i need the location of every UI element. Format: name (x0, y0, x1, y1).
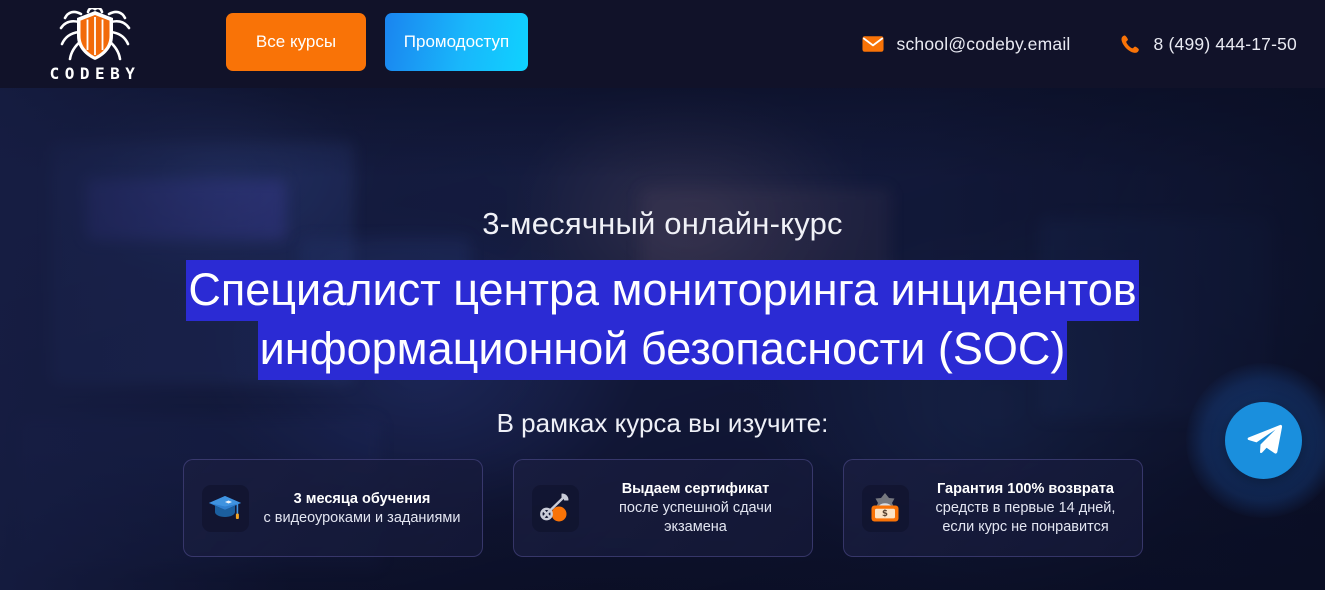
email-text: school@codeby.email (897, 34, 1071, 55)
spider-shield-logo-icon (58, 8, 132, 64)
hero-section: 3-месячный онлайн-курс Специалист центра… (0, 88, 1325, 590)
phone-icon (1119, 33, 1141, 55)
feature-card-guarantee: $ Гарантия 100% возврата средств в первы… (843, 459, 1143, 557)
page-root: CODEBY Все курсы Промодоступ school@code… (0, 0, 1325, 590)
feature-cards: 3 месяца обучения с видеоуроками и задан… (0, 459, 1325, 557)
page-title-line-1: Специалист центра мониторинга инцидентов (186, 260, 1138, 321)
page-title: Специалист центра мониторинга инцидентов… (0, 260, 1325, 378)
feature-card-text: Гарантия 100% возврата средств в первые … (924, 479, 1128, 537)
telegram-fab-wrapper (1186, 363, 1325, 518)
hero-subtitle: В рамках курса вы изучите: (0, 408, 1325, 439)
feature-card-duration: 3 месяца обучения с видеоуроками и задан… (183, 459, 483, 557)
page-title-line-2: информационной безопасности (SOC) (258, 319, 1068, 380)
money-bag-icon: $ (862, 485, 909, 532)
logo-wordmark: CODEBY (50, 66, 141, 82)
feature-card-certificate: Выдаем сертификат после успешной сдачи э… (513, 459, 813, 557)
header-nav-buttons: Все курсы Промодоступ (226, 13, 528, 71)
phone-text: 8 (499) 444-17-50 (1154, 34, 1298, 55)
feature-card-desc: с видеоуроками и заданиями (264, 510, 461, 526)
feature-card-desc: средств в первые 14 дней, если курс не п… (936, 500, 1116, 535)
certificate-icon (532, 485, 579, 532)
telegram-paper-plane-icon (1245, 422, 1283, 459)
graduation-cap-icon (202, 485, 249, 532)
phone-contact[interactable]: 8 (499) 444-17-50 (1119, 33, 1298, 55)
promo-access-button[interactable]: Промодоступ (385, 13, 528, 71)
site-logo[interactable]: CODEBY (36, 6, 154, 84)
envelope-icon (862, 33, 884, 55)
feature-card-text: Выдаем сертификат после успешной сдачи э… (594, 479, 798, 537)
svg-text:$: $ (882, 509, 888, 519)
site-header: CODEBY Все курсы Промодоступ school@code… (0, 0, 1325, 88)
feature-card-title: Гарантия 100% возврата (924, 479, 1128, 499)
feature-card-text: 3 месяца обучения с видеоуроками и задан… (264, 489, 461, 528)
email-contact[interactable]: school@codeby.email (862, 33, 1071, 55)
feature-card-title: Выдаем сертификат (594, 479, 798, 499)
all-courses-button[interactable]: Все курсы (226, 13, 366, 71)
feature-card-title: 3 месяца обучения (264, 489, 461, 509)
header-contacts: school@codeby.email 8 (499) 444-17-50 (862, 0, 1297, 88)
telegram-chat-button[interactable] (1225, 402, 1302, 479)
feature-card-desc: после успешной сдачи экзамена (619, 500, 772, 535)
hero-kicker: 3-месячный онлайн-курс (0, 206, 1325, 242)
